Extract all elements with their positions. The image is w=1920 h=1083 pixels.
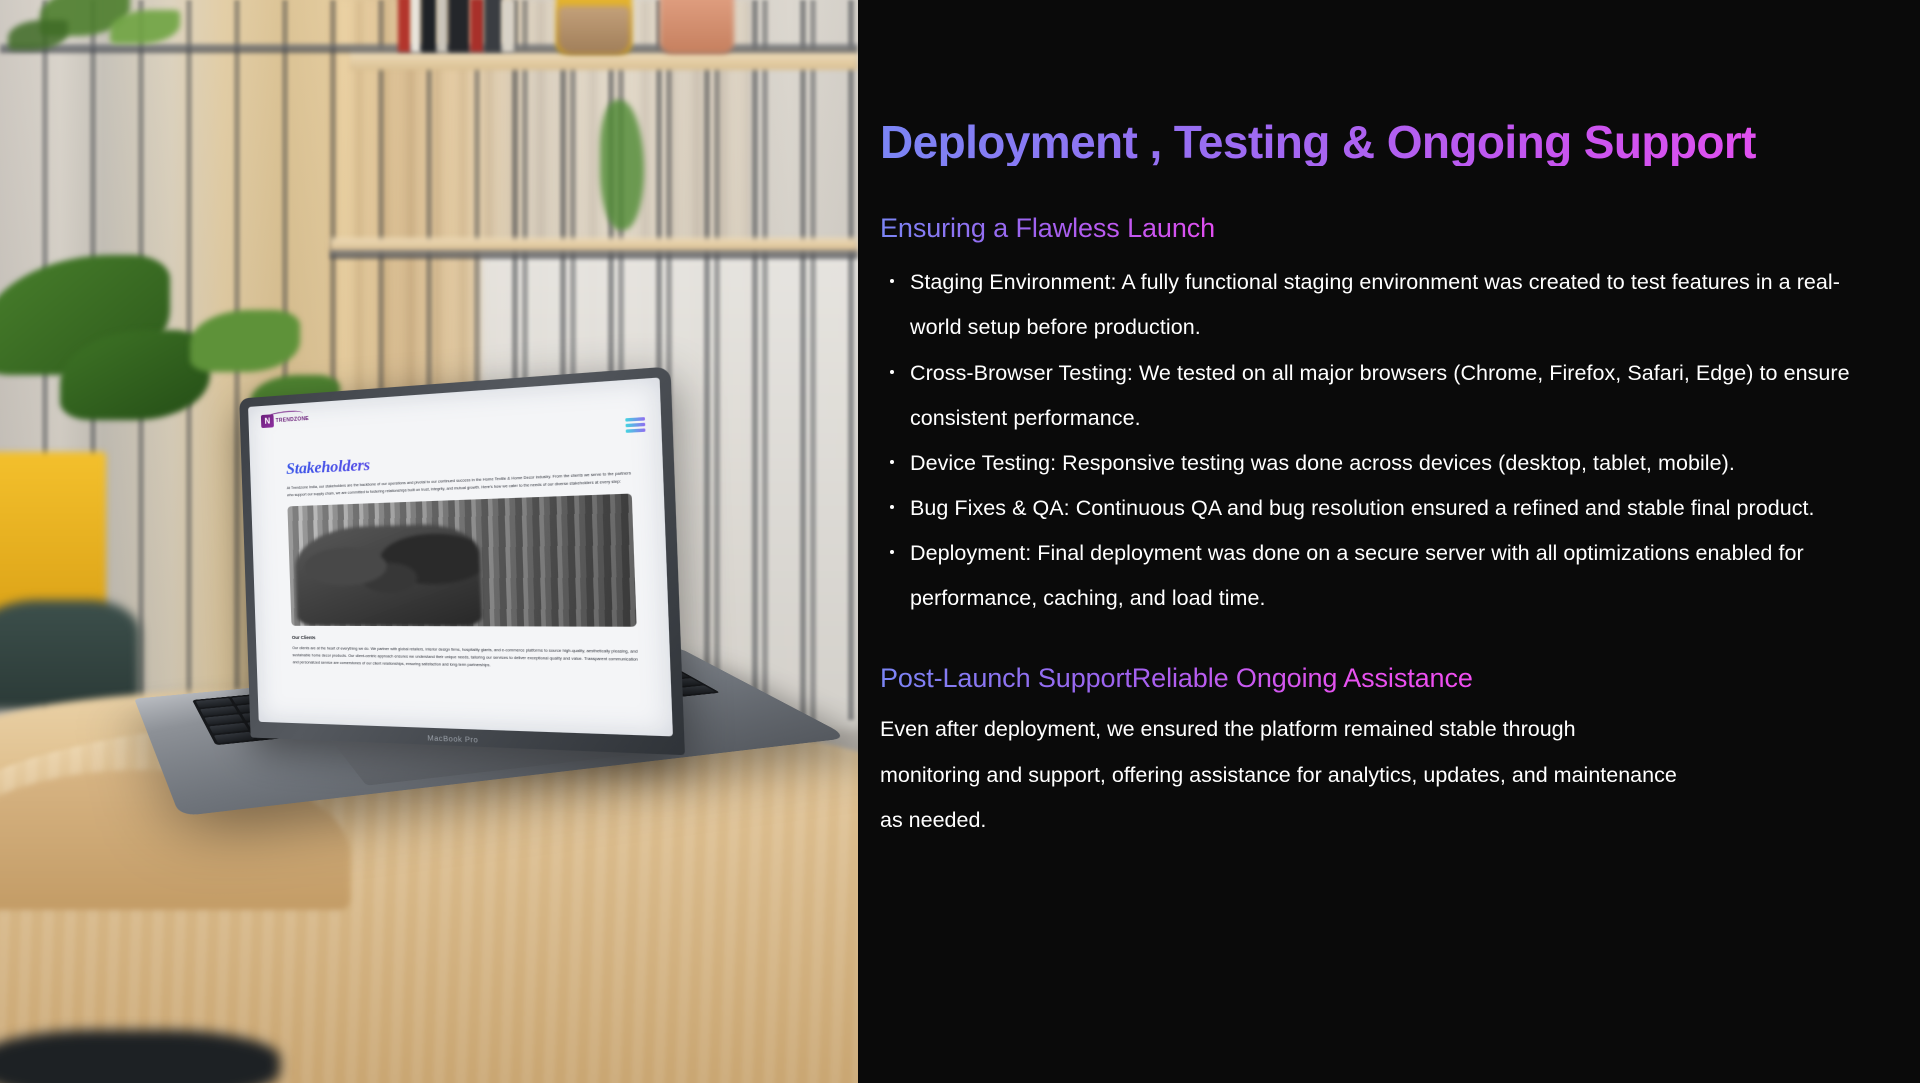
book bbox=[502, 0, 514, 52]
shelf-rail-middle bbox=[330, 250, 858, 259]
list-item: Device Testing: Responsive testing was d… bbox=[880, 441, 1874, 486]
screen-hero-image bbox=[287, 494, 636, 627]
book bbox=[421, 0, 437, 52]
list-item: Cross-Browser Testing: We tested on all … bbox=[880, 351, 1874, 441]
list-item-text: Cross-Browser Testing: We tested on all … bbox=[910, 361, 1850, 430]
screen-section-heading: Our Clients bbox=[292, 635, 637, 643]
slide-title: Deployment , Testing & Ongoing Support bbox=[880, 118, 1874, 166]
book bbox=[484, 0, 502, 52]
section-one-bullet-list: Staging Environment: A fully functional … bbox=[880, 260, 1874, 621]
list-item: Staging Environment: A fully functional … bbox=[880, 260, 1874, 350]
bullet-dot-icon bbox=[890, 370, 894, 374]
bullet-dot-icon bbox=[890, 550, 894, 554]
list-item-text: Deployment: Final deployment was done on… bbox=[910, 541, 1804, 610]
site-logo[interactable]: N TRENDZONE bbox=[261, 412, 309, 428]
section-two-heading: Post-Launch SupportReliable Ongoing Assi… bbox=[880, 663, 1473, 694]
content-panel: Deployment , Testing & Ongoing Support E… bbox=[858, 0, 1920, 1083]
laptop-lid: N TRENDZONE Stakeholders At Trendzone In… bbox=[239, 366, 685, 755]
list-item: Deployment: Final deployment was done on… bbox=[880, 531, 1874, 621]
logo-wordmark: TRENDZONE bbox=[276, 415, 310, 423]
bullet-dot-icon bbox=[890, 279, 894, 283]
bullet-dot-icon bbox=[890, 460, 894, 464]
bullet-dot-icon bbox=[890, 505, 894, 509]
section-one-heading: Ensuring a Flawless Launch bbox=[880, 213, 1215, 244]
laptop-screen: N TRENDZONE Stakeholders At Trendzone In… bbox=[248, 377, 673, 736]
list-item-text: Staging Environment: A fully functional … bbox=[910, 270, 1840, 339]
book bbox=[411, 0, 421, 52]
book bbox=[437, 0, 448, 52]
list-item-text: Device Testing: Responsive testing was d… bbox=[910, 451, 1735, 475]
logo-mark-icon: N bbox=[261, 414, 274, 428]
screen-page-body: Stakeholders At Trendzone India, our sta… bbox=[286, 443, 638, 671]
screen-section-paragraph: Our clients are at the heart of everythi… bbox=[292, 645, 638, 671]
book bbox=[470, 0, 484, 52]
floor-shadow bbox=[0, 1030, 280, 1083]
book bbox=[448, 0, 470, 52]
plant-pot-tan bbox=[558, 6, 630, 54]
plant-leaf bbox=[190, 310, 300, 372]
laptop: N TRENDZONE Stakeholders At Trendzone In… bbox=[117, 391, 858, 959]
section-two-paragraph: Even after deployment, we ensured the pl… bbox=[880, 707, 1680, 842]
plant-pot-terracotta bbox=[660, 0, 734, 54]
list-item: Bug Fixes & QA: Continuous QA and bug re… bbox=[880, 486, 1874, 531]
laptop-mockup-photo: N TRENDZONE Stakeholders At Trendzone In… bbox=[0, 0, 858, 1083]
list-item-text: Bug Fixes & QA: Continuous QA and bug re… bbox=[910, 496, 1815, 520]
slide-root: N TRENDZONE Stakeholders At Trendzone In… bbox=[0, 0, 1920, 1083]
hamburger-menu-icon[interactable] bbox=[625, 417, 645, 432]
book bbox=[398, 0, 411, 52]
